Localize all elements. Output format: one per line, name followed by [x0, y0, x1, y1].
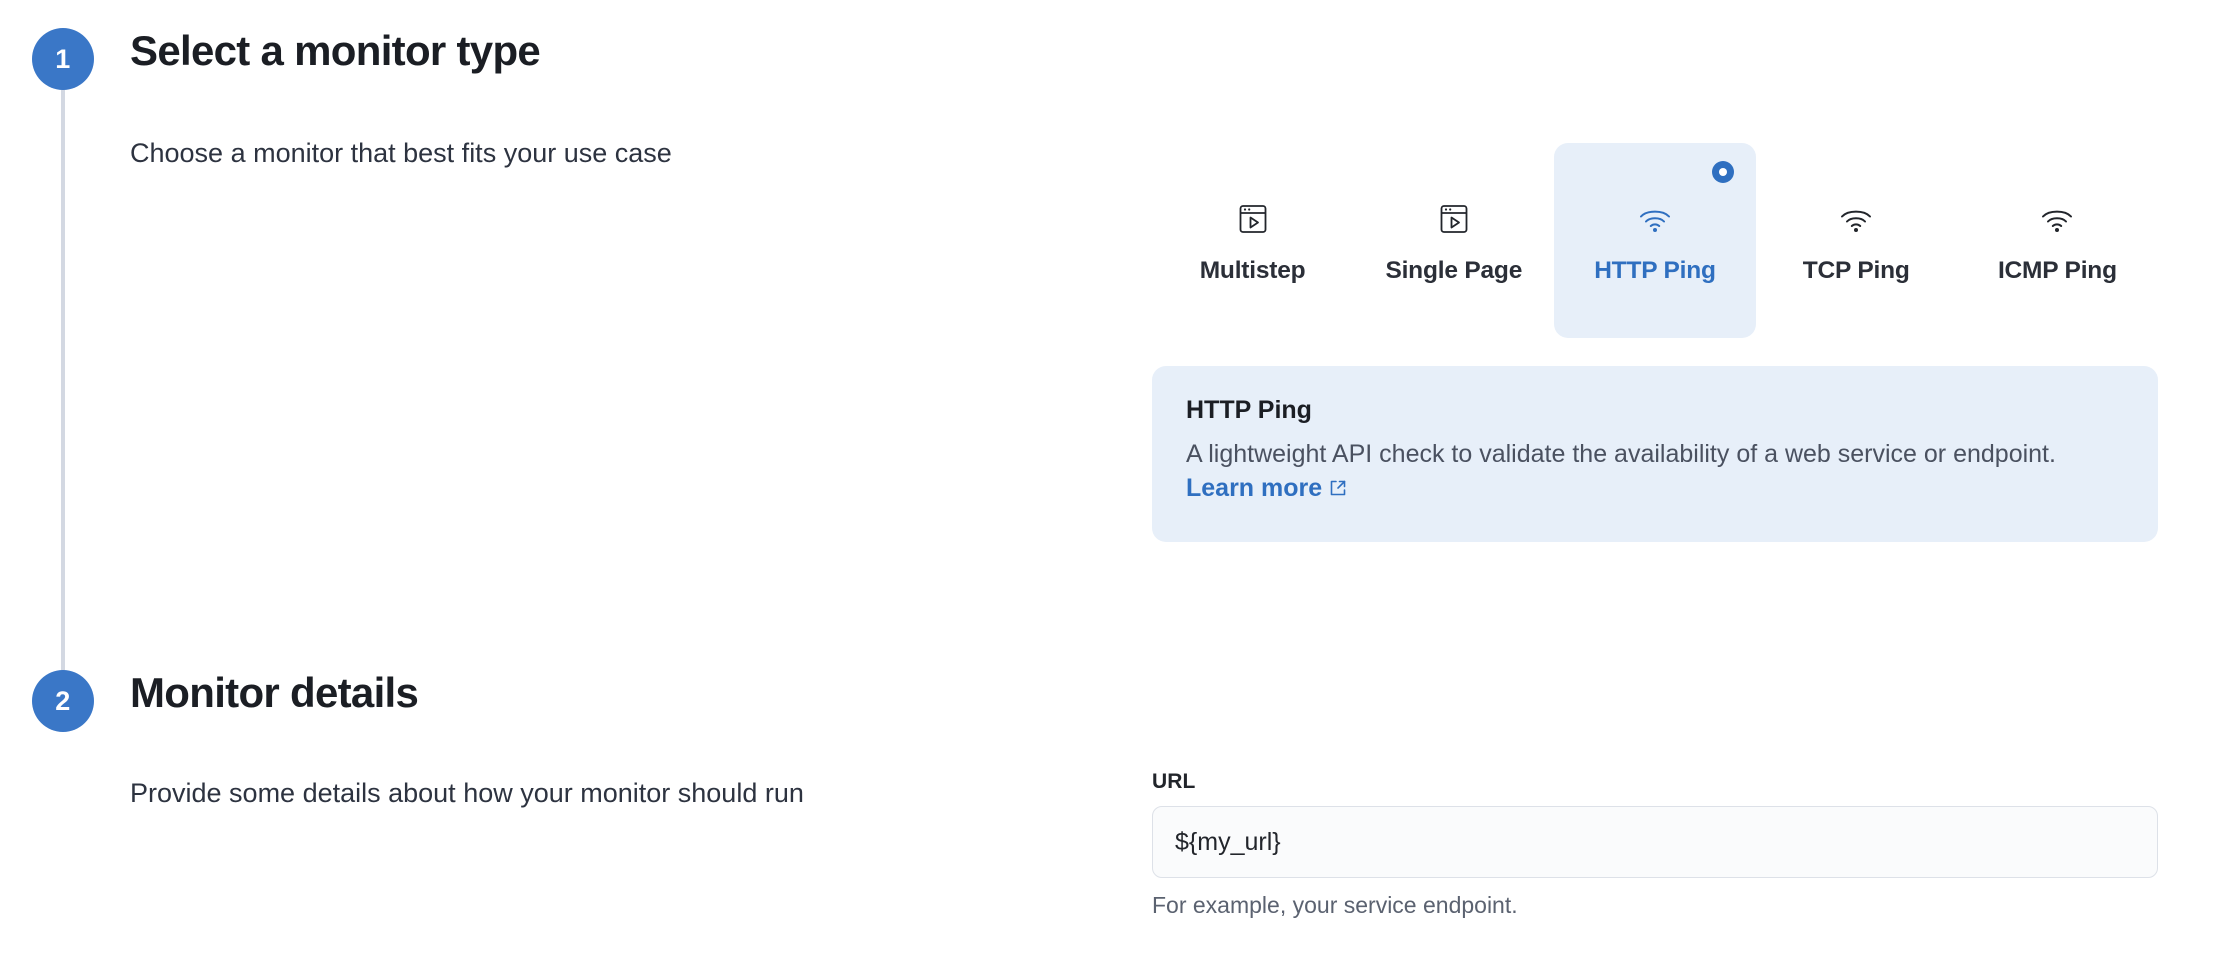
monitor-type-label: HTTP Ping — [1594, 257, 1716, 285]
step-1-description: Choose a monitor that best fits your use… — [130, 136, 1080, 171]
learn-more-label: Learn more — [1186, 474, 1322, 502]
stepper-connector-line — [61, 86, 65, 676]
info-panel-title: HTTP Ping — [1186, 396, 2124, 425]
step-1-text-column: Select a monitor type Choose a monitor t… — [130, 28, 1080, 171]
ping-wifi-icon — [1638, 197, 1672, 241]
step-1-badge: 1 — [32, 28, 94, 90]
browser-play-icon — [1238, 197, 1268, 241]
monitor-type-label: TCP Ping — [1803, 257, 1910, 285]
info-panel-description: A lightweight API check to validate the … — [1186, 440, 2056, 468]
monitor-details-form: URL For example, your service endpoint. — [1152, 770, 2158, 919]
learn-more-link[interactable]: Learn more — [1186, 474, 1348, 502]
monitor-type-label: Single Page — [1385, 257, 1522, 285]
step-2-description: Provide some details about how your moni… — [130, 776, 1080, 811]
monitor-type-card-single-page[interactable]: Single Page — [1353, 143, 1554, 338]
monitor-type-card-multistep[interactable]: Multistep — [1152, 143, 1353, 338]
url-field-help-text: For example, your service endpoint. — [1152, 892, 2158, 919]
radio-selected-icon[interactable] — [1712, 161, 1734, 183]
browser-play-icon — [1439, 197, 1469, 241]
monitor-create-wizard: 1 Select a monitor type Choose a monitor… — [0, 0, 2218, 958]
url-field-label: URL — [1152, 770, 2158, 794]
url-input[interactable] — [1152, 806, 2158, 878]
info-panel-body: A lightweight API check to validate the … — [1186, 437, 2086, 508]
step-1-title: Select a monitor type — [130, 28, 1080, 74]
monitor-type-card-tcp-ping[interactable]: TCP Ping — [1756, 143, 1957, 338]
external-link-icon — [1328, 473, 1348, 507]
monitor-type-selector: Multistep Single Page — [1152, 143, 2158, 542]
step-2-text-column: Monitor details Provide some details abo… — [130, 670, 1080, 811]
step-2-title: Monitor details — [130, 670, 1080, 716]
monitor-type-card-icmp-ping[interactable]: ICMP Ping — [1957, 143, 2158, 338]
monitor-type-grid: Multistep Single Page — [1152, 143, 2158, 338]
monitor-type-label: ICMP Ping — [1998, 257, 2117, 285]
monitor-type-card-http-ping[interactable]: HTTP Ping — [1554, 143, 1755, 338]
ping-wifi-icon — [1839, 197, 1873, 241]
monitor-type-label: Multistep — [1200, 257, 1306, 285]
monitor-type-info-panel: HTTP Ping A lightweight API check to val… — [1152, 366, 2158, 542]
step-2-badge: 2 — [32, 670, 94, 732]
ping-wifi-icon — [2040, 197, 2074, 241]
